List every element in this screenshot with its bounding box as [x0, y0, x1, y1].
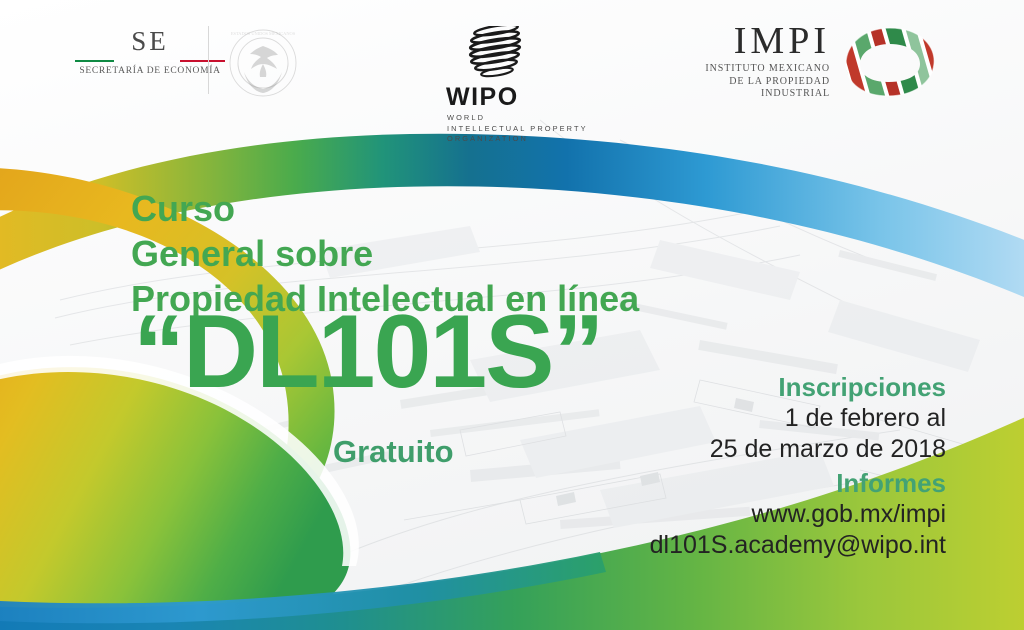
wipo-subtitle-line-2: INTELLECTUAL PROPERTY [447, 124, 590, 135]
contact-website[interactable]: www.gob.mx/impi [566, 499, 946, 530]
impi-subtitle-line-1: INSTITUTO MEXICANO [700, 63, 830, 76]
impi-logo: IMPI INSTITUTO MEXICANO DE LA PROPIEDAD … [700, 22, 940, 101]
logo-divider [208, 26, 209, 94]
impi-ribbon-icon [840, 22, 940, 100]
info-block: Inscripciones 1 de febrero al 25 de marz… [566, 372, 946, 561]
mexican-coat-of-arms: ESTADOS UNIDOS MEXICANOS [222, 22, 304, 104]
secretaria-de-economia-logo: SE SECRETARÍA DE ECONOMÍA [70, 28, 230, 76]
se-mark: SE [70, 28, 230, 55]
impi-subtitle-line-3: INDUSTRIAL [700, 88, 830, 101]
coat-of-arms-icon: ESTADOS UNIDOS MEXICANOS [222, 22, 304, 104]
enrollment-date-line-1: 1 de febrero al [566, 403, 946, 434]
enrollment-date-line-2: 25 de marzo de 2018 [566, 434, 946, 465]
wipo-mark: WIPO [440, 85, 590, 110]
logo-bar: SE SECRETARÍA DE ECONOMÍA [0, 0, 1024, 140]
impi-subtitle: INSTITUTO MEXICANO DE LA PROPIEDAD INDUS… [700, 63, 830, 101]
poster-canvas: SE SECRETARÍA DE ECONOMÍA [0, 0, 1024, 630]
wipo-subtitle: WORLD INTELLECTUAL PROPERTY ORGANIZATION [440, 113, 590, 145]
impi-mark: IMPI [700, 22, 830, 60]
contact-heading: Informes [566, 468, 946, 499]
price-label: Gratuito [333, 436, 454, 467]
se-subtitle: SECRETARÍA DE ECONOMÍA [70, 66, 230, 76]
wipo-subtitle-line-3: ORGANIZATION [447, 134, 590, 145]
wipo-subtitle-line-1: WORLD [447, 113, 590, 124]
course-title-line-1: Curso [131, 186, 639, 231]
wipo-logo: WIPO WORLD INTELLECTUAL PROPERTY ORGANIZ… [440, 26, 590, 145]
se-flag-rule [75, 60, 225, 62]
impi-subtitle-line-2: DE LA PROPIEDAD [700, 76, 830, 89]
course-title-line-2: General sobre [131, 231, 639, 276]
enrollment-heading: Inscripciones [566, 372, 946, 403]
wipo-globe-icon [440, 26, 590, 78]
course-code-headline: “DL101S” [133, 300, 603, 404]
contact-email[interactable]: dl101S.academy@wipo.int [566, 530, 946, 561]
svg-text:ESTADOS UNIDOS MEXICANOS: ESTADOS UNIDOS MEXICANOS [231, 31, 296, 36]
